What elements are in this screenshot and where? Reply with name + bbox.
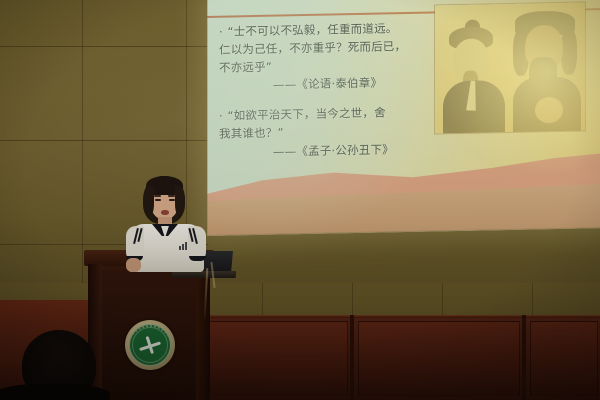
wainscot-panel [530, 321, 598, 396]
bullet-icon: · [219, 25, 224, 39]
quote-attribution: ——《孟子·公孙丑下》 [219, 140, 429, 162]
lectern-right-bevel [196, 264, 210, 400]
wall-seam-vertical [82, 0, 83, 300]
screenshot-root: · “士不可以不弘毅，任重而道远。 仁以为己任，不亦重乎？死而后已， 不亦远乎”… [0, 0, 600, 400]
quote-block-lunyu: · “士不可以不弘毅，任重而道远。 仁以为己任，不亦重乎？死而后已， 不亦远乎”… [219, 20, 429, 96]
laptop-base [172, 271, 237, 278]
quote-text: “士不可以不弘毅，任重而道远。 [228, 21, 398, 38]
quote-block-mengzi: · “如欲平治天下，当今之世，舍 我其谁也？” ——《孟子·公孙丑下》 [219, 104, 429, 163]
wall-seam-vertical [442, 283, 443, 319]
institution-emblem [125, 320, 175, 370]
quote-text: “如欲平治天下，当今之世，舍 [228, 106, 386, 123]
hair-side-left [144, 186, 154, 216]
quote-attribution: ——《论语·泰伯章》 [219, 74, 429, 96]
wainscot-seam [350, 315, 354, 400]
shirt-logo-icon [179, 242, 188, 250]
wall-seam-horizontal [0, 46, 208, 47]
forearm-left [126, 258, 141, 272]
wall-seam-horizontal [0, 140, 208, 141]
lectern-podium [88, 258, 210, 400]
wainscot-seam [522, 315, 526, 400]
speaker-person [126, 176, 206, 272]
audience-member-shoulders [0, 384, 110, 400]
bullet-icon: · [219, 109, 224, 123]
mouth [161, 210, 169, 215]
slide-text-block: · “士不可以不弘毅，任重而道远。 仁以为己任，不亦重乎？死而后已， 不亦远乎”… [219, 20, 429, 175]
wall-seam-vertical [532, 283, 533, 319]
emblem-text-arc [130, 325, 170, 365]
wall-seam-vertical [262, 283, 263, 319]
eyebrow-left [154, 195, 161, 197]
wall-seam-vertical [352, 283, 353, 319]
sleeve-cuff-right [189, 256, 206, 261]
slide-portrait-image [435, 2, 585, 133]
eyebrow-right [168, 195, 175, 197]
hair-side-right [175, 186, 185, 216]
portrait-projector-wash [435, 2, 585, 133]
projection-screen: · “士不可以不弘毅，任重而道远。 仁以为己任，不亦重乎？死而后已， 不亦远乎”… [207, 0, 600, 236]
wainscot-panel [358, 321, 520, 396]
